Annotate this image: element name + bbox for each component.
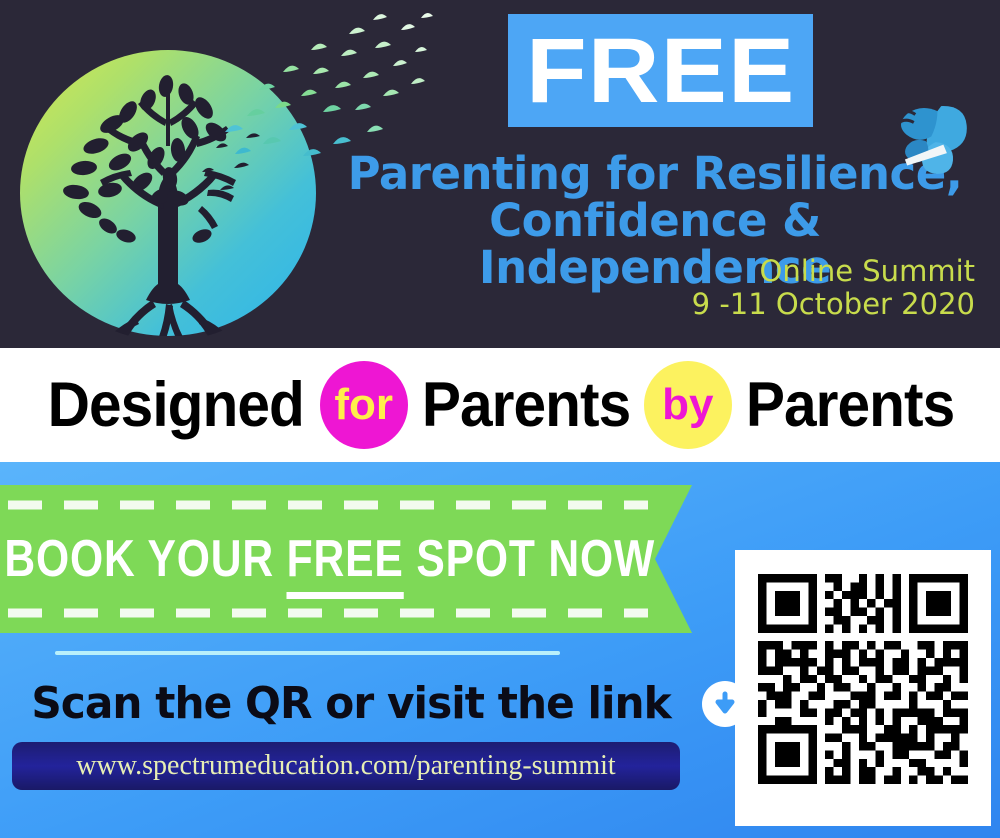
book-now-ribbon[interactable] [0, 485, 692, 633]
summit-dates: 9 -11 October 2020 [520, 288, 975, 321]
tagline-word-designed: Designed [48, 374, 304, 437]
url-bar[interactable]: www.spectrumeducation.com/parenting-summ… [12, 742, 680, 790]
summit-details: Online Summit 9 -11 October 2020 [520, 255, 975, 321]
tagline-word-parents-1: Parents [422, 374, 630, 437]
poster-header: FREE Parenting for Resilience, Confidenc… [0, 0, 1000, 348]
tagline-chip-by: by [644, 361, 732, 449]
qr-card [735, 550, 991, 826]
scan-instruction: Scan the QR or visit the link [18, 674, 658, 734]
tagline: Designed for Parents by Parents [38, 361, 962, 449]
free-badge-label: FREE [526, 25, 795, 117]
tagline-chip-for: for [320, 361, 408, 449]
title-line-1: Parenting for Resilience, [348, 147, 963, 200]
promo-poster: FREE Parenting for Resilience, Confidenc… [0, 0, 1000, 838]
tagline-band: Designed for Parents by Parents [0, 348, 1000, 462]
scan-instruction-text: Scan the QR or visit the link [31, 681, 670, 727]
flying-birds-icon [215, 4, 440, 169]
url-text: www.spectrumeducation.com/parenting-summ… [76, 751, 615, 781]
qr-code-icon[interactable] [758, 574, 968, 784]
butterfly-icon [880, 88, 980, 180]
free-badge: FREE [508, 14, 813, 127]
divider-rule [55, 651, 560, 655]
cta-section: BOOK YOUR FREE SPOT NOW Scan the QR or v… [0, 462, 1000, 838]
tagline-word-parents-2: Parents [746, 374, 954, 437]
summit-label: Online Summit [520, 255, 975, 288]
